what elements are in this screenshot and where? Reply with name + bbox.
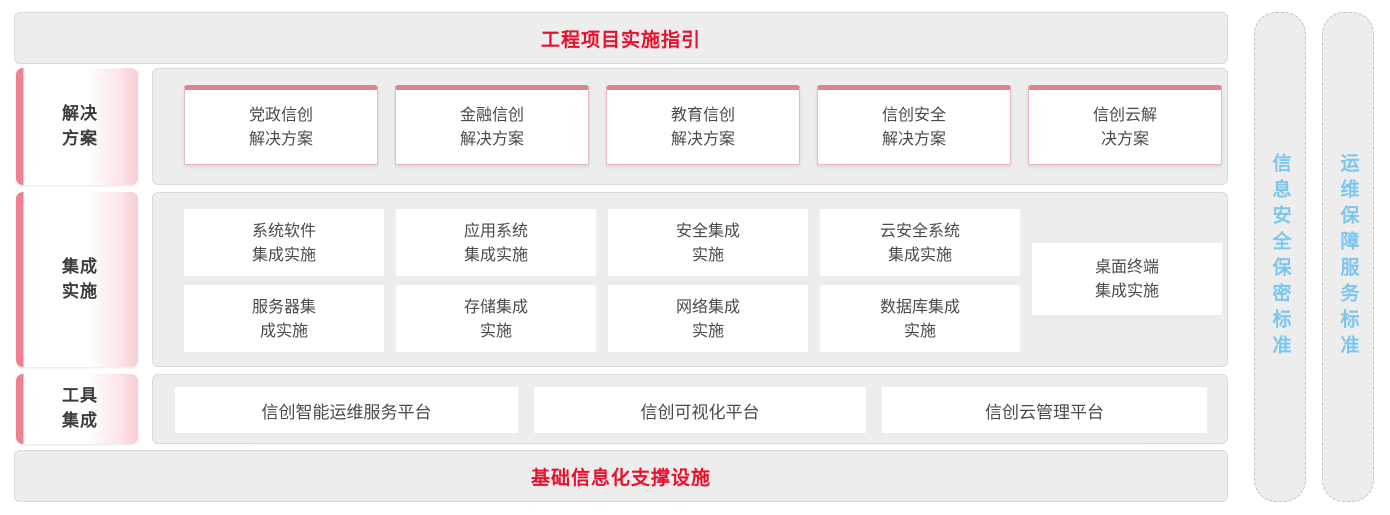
integration-card-r2c2[interactable]: 存储集成 实施 [396,285,596,352]
integration-card-r1c1-text: 系统软件 集成实施 [252,219,316,267]
solution-card-0-line2: 解决方案 [249,127,313,151]
integration-card-r1c2-line2: 集成实施 [464,243,528,267]
side-panel-security-standard-label: 信息安全保密标准 [1271,153,1290,361]
integration-card-r2c4[interactable]: 数据库集成 实施 [820,285,1020,352]
solution-card-1-text: 金融信创 解决方案 [460,103,524,151]
solution-card-2[interactable]: 教育信创 解决方案 [606,85,800,165]
side-panel-security-standard: 信息安全保密标准 [1254,12,1306,502]
row-tools: 工具 集成 信创智能运维服务平台 信创可视化平台 信创云管理平台 [0,374,1240,444]
row-label-tools-line1: 工具 [62,384,98,409]
integration-card-r1c3[interactable]: 安全集成 实施 [608,209,808,276]
integration-card-r1c4-line2: 集成实施 [880,243,960,267]
integration-card-r2c3-line1: 网络集成 [676,295,740,319]
solution-card-1-line2: 解决方案 [460,127,524,151]
integration-card-r2c4-line2: 实施 [880,319,960,343]
tool-card-0-label: 信创智能运维服务平台 [262,398,432,423]
integration-card-r2c4-line1: 数据库集成 [880,295,960,319]
solution-card-0-line1: 党政信创 [249,103,313,127]
integration-card-r2c2-line2: 实施 [464,319,528,343]
row-label-tools-text: 工具 集成 [56,384,98,433]
integration-card-r1c3-line1: 安全集成 [676,219,740,243]
solution-card-2-line1: 教育信创 [671,103,735,127]
solution-card-3-line2: 解决方案 [882,127,946,151]
row-label-integration-text: 集成 实施 [56,255,98,304]
page-title: 工程项目实施指引 [541,25,701,52]
integration-card-r1c2[interactable]: 应用系统 集成实施 [396,209,596,276]
row-label-tools-line2: 集成 [62,409,98,434]
integration-card-r1c1-line2: 集成实施 [252,243,316,267]
integration-card-r1c2-text: 应用系统 集成实施 [464,219,528,267]
integration-card-r1c4-text: 云安全系统 集成实施 [880,219,960,267]
row-label-integration-line2: 实施 [62,280,98,305]
solution-card-4[interactable]: 信创云解 决方案 [1028,85,1222,165]
integration-card-desktop-terminal[interactable]: 桌面终端 集成实施 [1032,243,1222,315]
side-panel-ops-standard-label: 运维保障服务标准 [1339,153,1358,361]
tool-card-2-label: 信创云管理平台 [985,398,1104,423]
row-label-integration: 集成 实施 [16,192,138,367]
integration-card-r1c1-line1: 系统软件 [252,219,316,243]
integration-card-r2c1-line2: 成实施 [252,319,316,343]
footer-banner: 基础信息化支撑设施 [14,450,1228,502]
integration-card-r2c2-line1: 存储集成 [464,295,528,319]
integration-card-r1c3-text: 安全集成 实施 [676,219,740,267]
integration-card-r1c1[interactable]: 系统软件 集成实施 [184,209,384,276]
integration-card-r2c3[interactable]: 网络集成 实施 [608,285,808,352]
integration-card-r2c3-line2: 实施 [676,319,740,343]
solution-card-4-line2: 决方案 [1093,127,1157,151]
tool-card-1-label: 信创可视化平台 [641,398,760,423]
row-label-solution-line2: 方案 [62,127,98,152]
integration-card-r2c3-text: 网络集成 实施 [676,295,740,343]
integration-card-r1c3-line2: 实施 [676,243,740,267]
solution-card-4-line1: 信创云解 [1093,103,1157,127]
solution-card-4-text: 信创云解 决方案 [1093,103,1157,151]
panel-solution: 党政信创 解决方案 金融信创 解决方案 教育信创 解决方案 [152,68,1228,185]
row-label-solution-line1: 解决 [62,102,98,127]
solution-card-3[interactable]: 信创安全 解决方案 [817,85,1011,165]
integration-card-r2c1-line1: 服务器集 [252,295,316,319]
solution-card-0-text: 党政信创 解决方案 [249,103,313,151]
integration-card-r1c4-line1: 云安全系统 [880,219,960,243]
integration-card-desktop-terminal-text: 桌面终端 集成实施 [1095,255,1159,303]
integration-card-r2c1-text: 服务器集 成实施 [252,295,316,343]
solution-card-1-line1: 金融信创 [460,103,524,127]
solution-card-0[interactable]: 党政信创 解决方案 [184,85,378,165]
tool-card-2[interactable]: 信创云管理平台 [882,387,1207,433]
integration-card-r1c4[interactable]: 云安全系统 集成实施 [820,209,1020,276]
tool-card-1[interactable]: 信创可视化平台 [534,387,866,433]
integration-card-r2c1[interactable]: 服务器集 成实施 [184,285,384,352]
solution-card-2-text: 教育信创 解决方案 [671,103,735,151]
panel-tools: 信创智能运维服务平台 信创可视化平台 信创云管理平台 [152,374,1228,444]
footer-title: 基础信息化支撑设施 [531,463,711,490]
tool-card-0[interactable]: 信创智能运维服务平台 [175,387,518,433]
row-solution: 解决 方案 党政信创 解决方案 金融信创 解决方案 [0,68,1240,185]
header-banner: 工程项目实施指引 [14,12,1228,64]
main-column: 工程项目实施指引 解决 方案 党政信创 解决方案 金融信创 [0,0,1240,515]
integration-card-r1c2-line1: 应用系统 [464,219,528,243]
row-label-integration-line1: 集成 [62,255,98,280]
panel-integration: 系统软件 集成实施 应用系统 集成实施 安全集成 实施 [152,192,1228,367]
solution-card-3-text: 信创安全 解决方案 [882,103,946,151]
solution-card-1[interactable]: 金融信创 解决方案 [395,85,589,165]
solution-card-2-line2: 解决方案 [671,127,735,151]
side-panel-ops-standard: 运维保障服务标准 [1322,12,1374,502]
row-label-solution-text: 解决 方案 [56,102,98,151]
row-label-tools: 工具 集成 [16,374,138,444]
integration-card-r2c2-text: 存储集成 实施 [464,295,528,343]
integration-card-r2c4-text: 数据库集成 实施 [880,295,960,343]
solution-card-3-line1: 信创安全 [882,103,946,127]
diagram-root: 工程项目实施指引 解决 方案 党政信创 解决方案 金融信创 [0,0,1390,515]
row-label-solution: 解决 方案 [16,68,138,185]
row-integration: 集成 实施 系统软件 集成实施 应用系统 集成实施 [0,192,1240,367]
integration-card-desktop-terminal-line2: 集成实施 [1095,279,1159,303]
integration-card-desktop-terminal-line1: 桌面终端 [1095,255,1159,279]
